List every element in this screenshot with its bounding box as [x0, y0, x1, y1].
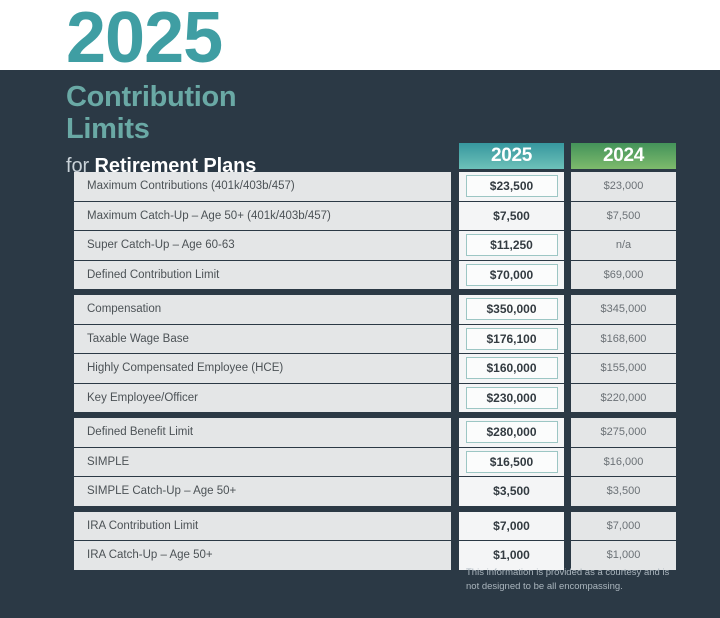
- value-2025-highlighted: $70,000: [466, 264, 558, 286]
- table-row: SIMPLE$16,500$16,000: [74, 448, 678, 477]
- cell-2024: $155,000: [571, 354, 676, 383]
- value-2025-highlighted: $176,100: [466, 328, 558, 350]
- value-2025-highlighted: $16,500: [466, 451, 558, 473]
- header-label-spacer: [74, 143, 451, 169]
- cell-2025: $280,000: [459, 418, 564, 447]
- cell-2024: $23,000: [571, 172, 676, 201]
- cell-2024: $275,000: [571, 418, 676, 447]
- title-line-1: Contribution: [66, 82, 256, 114]
- disclaimer-note: This information is provided as a courte…: [466, 566, 681, 594]
- row-label: Maximum Catch-Up – Age 50+ (401k/403b/45…: [74, 202, 451, 231]
- cell-2025: $3,500: [459, 477, 564, 506]
- row-label: Super Catch-Up – Age 60-63: [74, 231, 451, 260]
- table-row-group: Compensation$350,000$345,000Taxable Wage…: [74, 295, 678, 412]
- table-header-row: 2025 2024: [74, 143, 678, 169]
- value-2025: $7,500: [466, 206, 558, 226]
- cell-2024: $7,000: [571, 512, 676, 541]
- cell-2024: $7,500: [571, 202, 676, 231]
- cell-2025: $11,250: [459, 231, 564, 260]
- row-label: Maximum Contributions (401k/403b/457): [74, 172, 451, 201]
- row-label: IRA Contribution Limit: [74, 512, 451, 541]
- value-2025: $7,000: [466, 516, 558, 536]
- column-header-2025: 2025: [459, 143, 564, 169]
- table-row: Defined Benefit Limit$280,000$275,000: [74, 418, 678, 447]
- cell-2024: $69,000: [571, 261, 676, 290]
- row-label: Compensation: [74, 295, 451, 324]
- cell-2024: $3,500: [571, 477, 676, 506]
- cell-2024: $168,600: [571, 325, 676, 354]
- cell-2025: $350,000: [459, 295, 564, 324]
- cell-2025: $7,000: [459, 512, 564, 541]
- cell-2025: $23,500: [459, 172, 564, 201]
- cell-2025: $230,000: [459, 384, 564, 413]
- contribution-limits-table: 2025 2024 Maximum Contributions (401k/40…: [74, 143, 678, 570]
- value-2025-highlighted: $230,000: [466, 387, 558, 409]
- cell-2025: $70,000: [459, 261, 564, 290]
- column-header-2024: 2024: [571, 143, 676, 169]
- value-2025-highlighted: $280,000: [466, 421, 558, 443]
- value-2025: $3,500: [466, 481, 558, 501]
- row-label: Highly Compensated Employee (HCE): [74, 354, 451, 383]
- row-label: SIMPLE Catch-Up – Age 50+: [74, 477, 451, 506]
- value-2025-highlighted: $23,500: [466, 175, 558, 197]
- cell-2024: $345,000: [571, 295, 676, 324]
- table-body: Maximum Contributions (401k/403b/457)$23…: [74, 172, 678, 570]
- row-label: Key Employee/Officer: [74, 384, 451, 413]
- table-row-group: Maximum Contributions (401k/403b/457)$23…: [74, 172, 678, 289]
- row-label: Defined Contribution Limit: [74, 261, 451, 290]
- table-row: Compensation$350,000$345,000: [74, 295, 678, 324]
- infographic-poster: 2025 Contribution Limits for Retirement …: [0, 0, 720, 618]
- cell-2025: $16,500: [459, 448, 564, 477]
- table-row: Maximum Catch-Up – Age 50+ (401k/403b/45…: [74, 202, 678, 231]
- page-title: Contribution Limits: [66, 82, 256, 146]
- cell-2025: $160,000: [459, 354, 564, 383]
- cell-2024: $16,000: [571, 448, 676, 477]
- row-label: Defined Benefit Limit: [74, 418, 451, 447]
- table-row: Defined Contribution Limit$70,000$69,000: [74, 261, 678, 290]
- table-row: SIMPLE Catch-Up – Age 50+$3,500$3,500: [74, 477, 678, 506]
- value-2025: $1,000: [466, 545, 558, 565]
- title-line-2: Limits: [66, 114, 256, 146]
- cell-2024: n/a: [571, 231, 676, 260]
- value-2025-highlighted: $11,250: [466, 234, 558, 256]
- table-row: IRA Contribution Limit$7,000$7,000: [74, 512, 678, 541]
- row-label: SIMPLE: [74, 448, 451, 477]
- cell-2025: $176,100: [459, 325, 564, 354]
- row-label: IRA Catch-Up – Age 50+: [74, 541, 451, 570]
- table-row-group: IRA Contribution Limit$7,000$7,000IRA Ca…: [74, 512, 678, 570]
- table-row: Taxable Wage Base$176,100$168,600: [74, 325, 678, 354]
- cell-2024: $220,000: [571, 384, 676, 413]
- table-row: Maximum Contributions (401k/403b/457)$23…: [74, 172, 678, 201]
- page-title-year: 2025: [66, 2, 222, 74]
- table-row: Super Catch-Up – Age 60-63$11,250n/a: [74, 231, 678, 260]
- row-label: Taxable Wage Base: [74, 325, 451, 354]
- table-row: Highly Compensated Employee (HCE)$160,00…: [74, 354, 678, 383]
- value-2025-highlighted: $160,000: [466, 357, 558, 379]
- cell-2025: $7,500: [459, 202, 564, 231]
- table-row: Key Employee/Officer$230,000$220,000: [74, 384, 678, 413]
- table-row-group: Defined Benefit Limit$280,000$275,000SIM…: [74, 418, 678, 506]
- value-2025-highlighted: $350,000: [466, 298, 558, 320]
